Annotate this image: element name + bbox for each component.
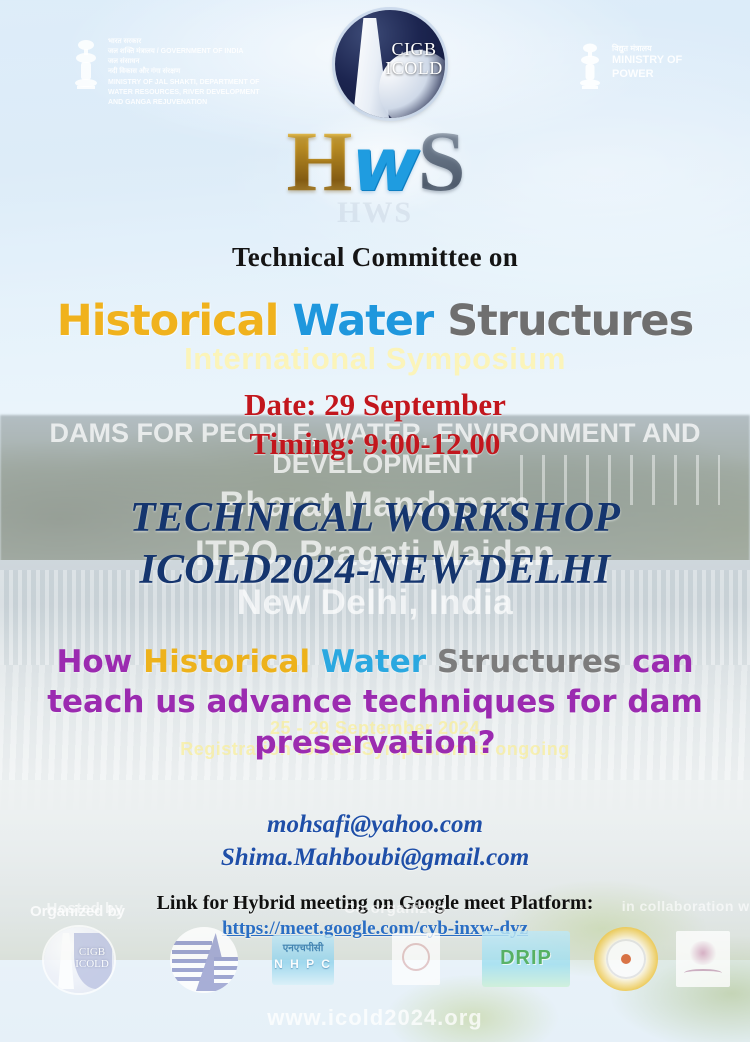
world-bank-ring-icon (402, 943, 430, 971)
partner-square-wave (684, 969, 722, 977)
gov-left-line-4: नदी विकास और गंगा संरक्षण (108, 67, 283, 77)
title-word-historical: Historical (57, 296, 279, 346)
question-word-structures: Structures (437, 644, 622, 680)
cigb-icold-logo: CIGB ICOLD (335, 10, 445, 118)
incold-stripes-right (214, 957, 238, 983)
gov-left-text: भारत सरकार जल शक्ति मंत्रालय / GOVERNMEN… (108, 37, 283, 108)
partner-square-mark (688, 941, 718, 965)
footer-logo-partner-square (676, 931, 730, 987)
nhpc-hindi-text: एनएचपीसी (272, 940, 334, 954)
title-word-water: Water (292, 296, 433, 346)
timing-line: Timing: 9:00-12.00 (0, 425, 750, 464)
ashoka-emblem-power-icon (578, 42, 602, 94)
footer-logo-emblem-circle (594, 927, 658, 991)
icold-logo-line-2: ICOLD (385, 59, 443, 78)
gov-left-line-7: AND GANGA REJUVENATION (108, 98, 283, 108)
question-word-water: Water (321, 644, 426, 680)
date-line: Date: 29 September (0, 386, 750, 425)
gov-left-line-6: WATER RESOURCES, RIVER DEVELOPMENT (108, 88, 283, 98)
gov-right-line-1: MINISTRY OF (612, 54, 727, 68)
committee-label: Technical Committee on (0, 242, 750, 273)
gov-left-line-5: MINISTRY OF JAL SHAKTI, DEPARTMENT OF (108, 78, 283, 88)
email-link-2[interactable]: Shima.Mahboubi@gmail.com (0, 841, 750, 874)
gov-right-hindi: विद्युत मंत्रालय (612, 44, 727, 54)
hws-wordmark: HwS (0, 118, 750, 204)
hws-reflection: HWS (0, 196, 750, 230)
workshop-heading: TECHNICAL WORKSHOP ICOLD2024-NEW DELHI (0, 492, 750, 596)
gov-right-line-2: POWER (612, 68, 727, 82)
meeting-link-label: Link for Hybrid meeting on Google meet P… (157, 892, 594, 914)
question-word-historical: Historical (143, 644, 310, 680)
organized-by-label: Organized by (30, 903, 125, 920)
icold-logo-line-1: CIGB (385, 40, 443, 59)
footer-icold-line-1: CIGB (72, 947, 112, 959)
gov-left-line-2: जल शक्ति मंत्रालय / GOVERNMENT OF INDIA (108, 47, 283, 57)
title-word-structures: Structures (447, 296, 693, 346)
icold-logo-text: CIGB ICOLD (385, 40, 443, 78)
poster-root: International Symposium DAMS FOR PEOPLE,… (0, 0, 750, 1042)
footer-icold-line-2: ICOLD (72, 959, 112, 971)
footer-icold-text: CIGB ICOLD (72, 947, 112, 970)
footer-logo-drip: DRIP (482, 931, 570, 987)
ashoka-emblem-icon (72, 38, 100, 96)
workshop-line-2: ICOLD2024-NEW DELHI (0, 544, 750, 596)
footer-logo-cigb-icold: CIGB ICOLD (44, 927, 114, 993)
date-time-block: Date: 29 September Timing: 9:00-12.00 (0, 386, 750, 464)
nhpc-acronym: N H P C (272, 957, 334, 971)
question-prefix: How (56, 644, 143, 680)
emblem-circle-dot (621, 954, 631, 964)
footer-logo-world-bank (392, 933, 440, 985)
gov-left-line-1: भारत सरकार (108, 37, 283, 47)
partner-logo-strip: CIGB ICOLD एनएचपीसी N H P C DRIP (0, 925, 750, 995)
drip-acronym: DRIP (482, 947, 570, 970)
question-statement: How Historical Water Structures can teac… (0, 642, 750, 763)
gov-left-line-3: जल संसाधन (108, 57, 283, 67)
footer-logo-incold (170, 927, 238, 993)
hws-letter-h: H (286, 113, 351, 209)
email-link-1[interactable]: mohsafi@yahoo.com (0, 808, 750, 841)
hws-letter-s: S (418, 113, 464, 209)
workshop-line-1: TECHNICAL WORKSHOP (0, 492, 750, 544)
gov-right-text: विद्युत मंत्रालय MINISTRY OF POWER (612, 44, 727, 82)
contact-emails: mohsafi@yahoo.com Shima.Mahboubi@gmail.c… (0, 808, 750, 874)
page-title: Historical Water Structures (0, 296, 750, 346)
footer-logo-nhpc: एनएचपीसी N H P C (272, 935, 334, 985)
